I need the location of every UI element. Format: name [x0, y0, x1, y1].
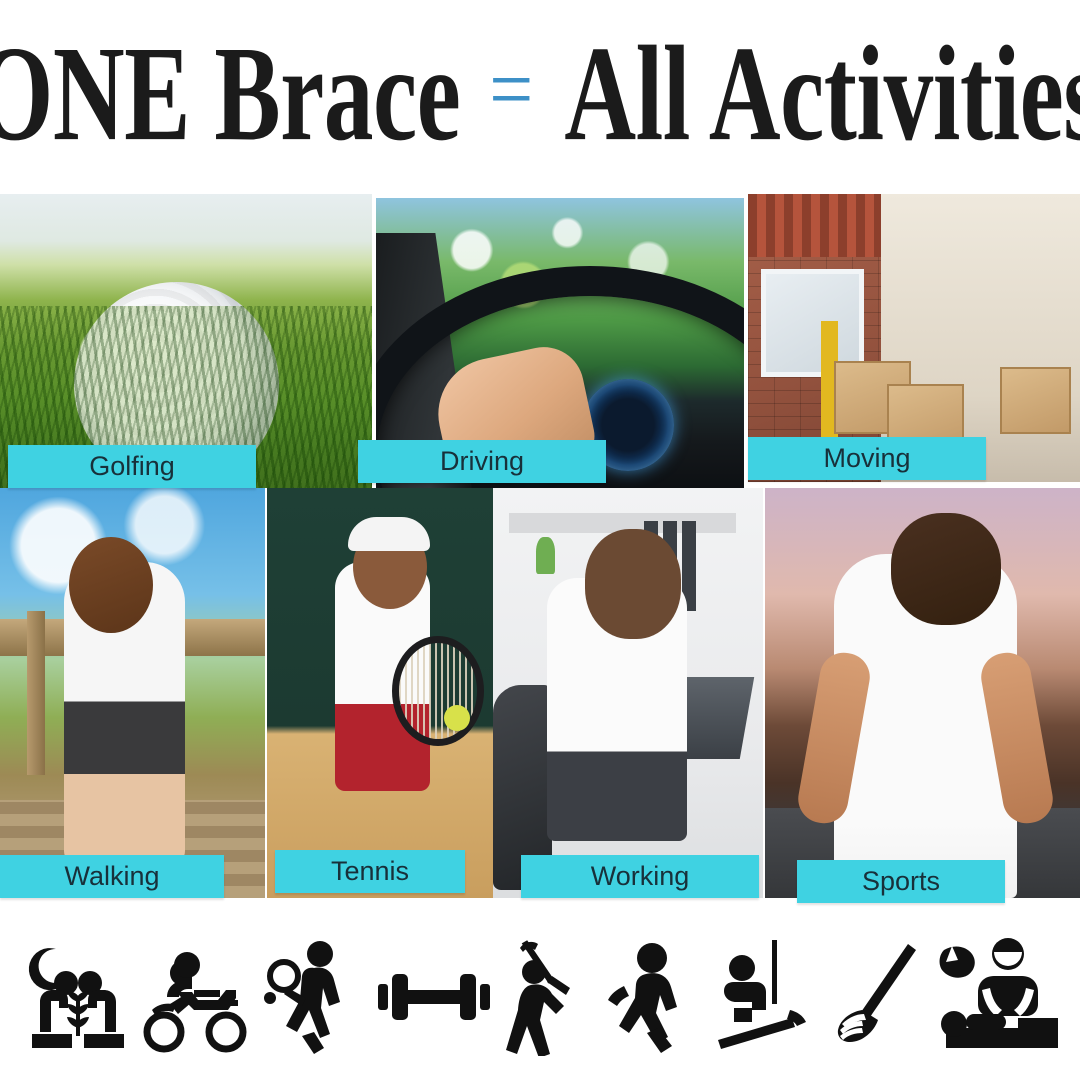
potted-plant-shape	[536, 537, 555, 574]
golf-ball-on-grass-photo	[0, 194, 372, 488]
headline-part-one: ONE Brace	[0, 27, 460, 163]
athlete-holding-lower-back-photo	[765, 488, 1080, 898]
tennis-cap-shape	[348, 517, 430, 551]
massage-therapy-icon	[932, 936, 1058, 1056]
activity-tile-sports[interactable]	[765, 488, 1080, 898]
woman-stretching-on-boardwalk-photo	[0, 488, 265, 898]
activity-photo-grid: Golfing Driving Moving	[0, 194, 1080, 900]
headline-part-two: All Activities	[565, 27, 1080, 163]
activity-label-tennis: Tennis	[275, 850, 465, 893]
activity-tile-golfing[interactable]	[0, 194, 372, 488]
roof-tiles-shape	[748, 194, 887, 257]
golf-club-icon	[822, 936, 926, 1056]
weightlifting-icon	[374, 936, 494, 1056]
athlete-head-shape	[891, 513, 1001, 625]
activity-label-sports: Sports	[797, 860, 1005, 903]
motorcycling-icon	[140, 936, 252, 1056]
skiing-icon	[712, 936, 816, 1056]
gardening-icon	[22, 936, 134, 1056]
running-icon	[606, 936, 706, 1056]
cardboard-box-shape	[1000, 367, 1070, 434]
activity-icon-strip	[0, 912, 1080, 1080]
walking-woman-head-shape	[69, 537, 153, 633]
activity-label-golfing: Golfing	[8, 445, 256, 488]
activity-label-walking: Walking	[0, 855, 224, 898]
page-headline: ONE Brace = All Activities	[0, 0, 1080, 190]
activity-label-working: Working	[521, 855, 759, 898]
activity-tile-tennis[interactable]	[267, 488, 493, 898]
office-worker-with-back-pain-photo	[493, 488, 763, 898]
office-worker-head-shape	[585, 529, 681, 639]
man-hitting-tennis-backhand-photo	[267, 488, 493, 898]
activity-tile-walking[interactable]	[0, 488, 265, 898]
headline-equals-sign: =	[489, 44, 533, 134]
golf-swing-icon	[500, 936, 600, 1056]
tennis-icon	[258, 936, 368, 1056]
tennis-racket-shape	[392, 636, 484, 746]
railing-post-shape	[27, 611, 46, 775]
activity-tile-working[interactable]	[493, 488, 763, 898]
activity-label-moving: Moving	[748, 437, 986, 480]
activity-label-driving: Driving	[358, 440, 606, 483]
